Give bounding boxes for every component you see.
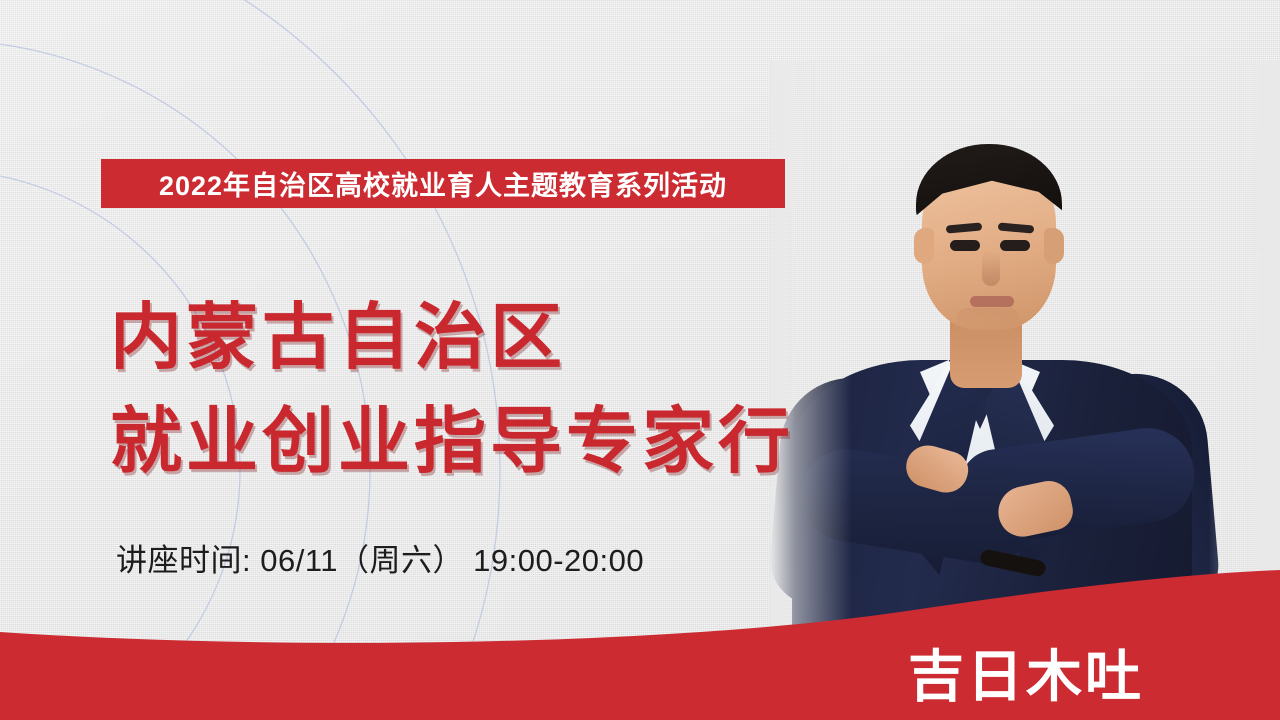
- portrait-mouth: [970, 296, 1014, 307]
- headline-line-2: 就业创业指导专家行: [110, 390, 794, 494]
- event-series-ribbon: 2022年自治区高校就业育人主题教育系列活动: [101, 159, 785, 208]
- headline-block: 内蒙古自治区 就业创业指导专家行: [110, 286, 794, 494]
- event-series-label: 2022年自治区高校就业育人主题教育系列活动: [159, 164, 727, 203]
- speaker-name-label: 吉日木吐: [908, 632, 1144, 713]
- lecture-schedule-text: 讲座时间: 06/11（周六） 19:00-20:00: [116, 535, 644, 580]
- headline-line-1: 内蒙古自治区: [110, 286, 794, 390]
- portrait-eye-left: [950, 240, 980, 251]
- portrait-chin-shadow: [956, 308, 1020, 330]
- portrait-ear-left: [914, 228, 934, 264]
- portrait-eye-right: [1000, 240, 1030, 251]
- poster-canvas: 2022年自治区高校就业育人主题教育系列活动 内蒙古自治区 就业创业指导专家行 …: [0, 0, 1280, 720]
- portrait-ear-right: [1044, 228, 1064, 264]
- portrait-nose: [982, 250, 1000, 286]
